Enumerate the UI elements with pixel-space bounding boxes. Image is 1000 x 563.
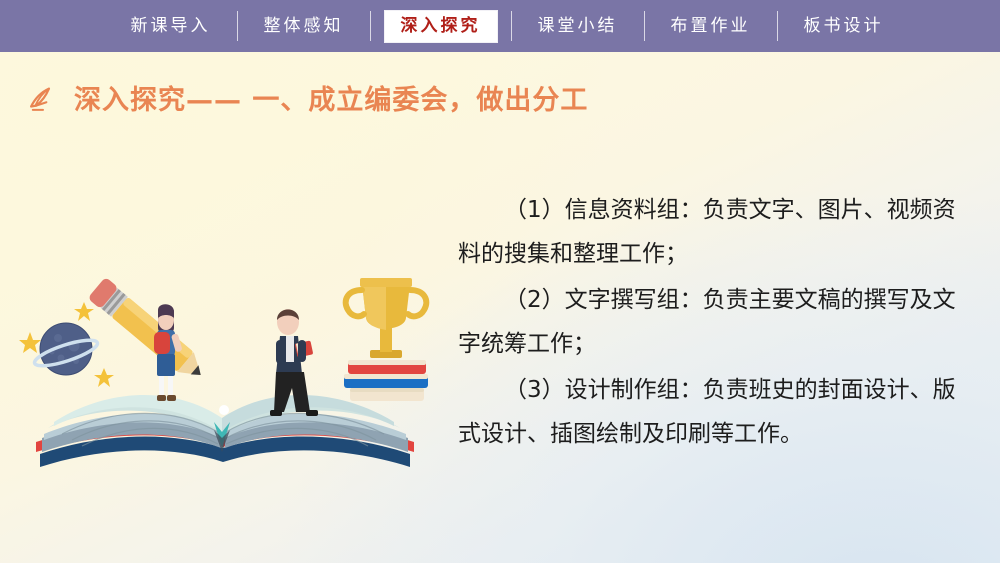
nav-tab-shenrutanjiu[interactable]: 深入探究 [385, 11, 497, 42]
trophy-icon [346, 278, 427, 358]
paragraph-2: （2）文字撰写组：负责主要文稿的撰写及文字统筹工作； [458, 278, 958, 366]
nav-tab-banshusheji[interactable]: 板书设计 [778, 0, 910, 52]
paragraph-1: （1）信息资料组：负责文字、图片、视频资料的搜集和整理工作； [458, 188, 958, 276]
open-book-icon [36, 395, 414, 467]
nav-tab-buzhizuoye[interactable]: 布置作业 [645, 0, 777, 52]
pencil-icon [88, 277, 210, 386]
content-text-block: （1）信息资料组：负责文字、图片、视频资料的搜集和整理工作； （2）文字撰写组：… [458, 188, 958, 458]
top-navigation-bar: 新课导入 整体感知 深入探究 课堂小结 布置作业 板书设计 [0, 0, 1000, 52]
slide: 新课导入 整体感知 深入探究 课堂小结 布置作业 板书设计 深入探究—— 一、成… [0, 0, 1000, 563]
heading-title: 深入探究—— 一、成立编委会，做出分工 [74, 78, 588, 117]
nav-separator [370, 11, 371, 41]
nav-tab-xinkedaoru[interactable]: 新课导入 [105, 0, 237, 52]
section-heading: 深入探究—— 一、成立编委会，做出分工 [26, 78, 588, 117]
planet-icon [32, 323, 100, 375]
open-book-students-illustration [18, 262, 448, 492]
quill-pen-icon [26, 81, 60, 115]
nav-tab-ketangxiaojie[interactable]: 课堂小结 [512, 0, 644, 52]
nav-tab-zhengtiganzhi[interactable]: 整体感知 [238, 0, 370, 52]
paragraph-3: （3）设计制作组：负责班史的封面设计、版式设计、插图绘制及印刷等工作。 [458, 368, 958, 456]
nav-tab-group: 新课导入 整体感知 深入探究 课堂小结 布置作业 板书设计 [105, 0, 910, 52]
stacked-books-icon [344, 360, 428, 401]
